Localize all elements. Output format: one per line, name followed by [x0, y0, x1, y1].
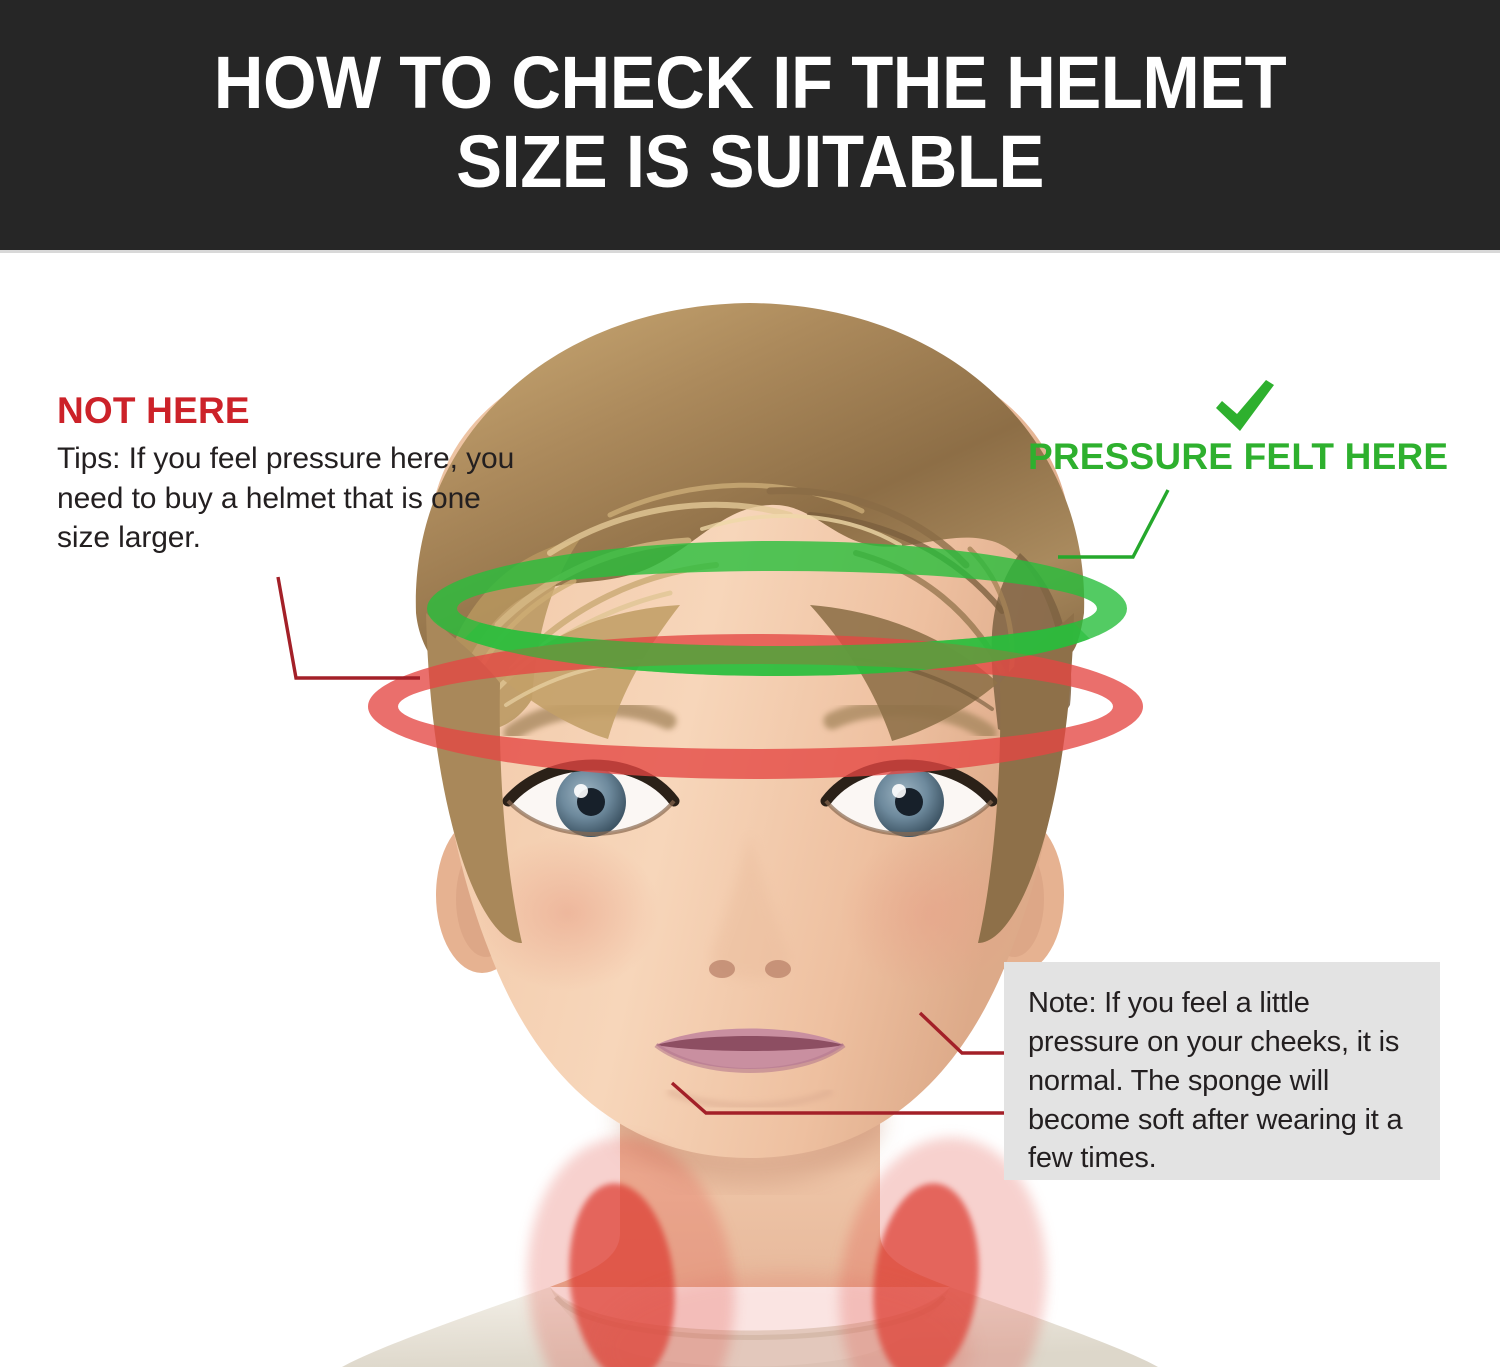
header-banner: HOW TO CHECK IF THE HELMET SIZE IS SUITA…: [0, 0, 1500, 253]
note-text: Note: If you feel a little pressure on y…: [1028, 984, 1418, 1178]
page-title: HOW TO CHECK IF THE HELMET SIZE IS SUITA…: [132, 43, 1369, 207]
pressure-here-annotation: PRESSURE FELT HERE: [1028, 378, 1458, 475]
not-here-body: Tips: If you feel pressure here, you nee…: [57, 439, 527, 558]
not-here-annotation: NOT HERE Tips: If you feel pressure here…: [57, 392, 527, 558]
note-callout-box: Note: If you feel a little pressure on y…: [1004, 962, 1440, 1180]
infographic-page: HOW TO CHECK IF THE HELMET SIZE IS SUITA…: [0, 0, 1500, 1367]
pressure-here-title: PRESSURE FELT HERE: [1028, 438, 1458, 475]
check-mark-icon: [1213, 378, 1277, 436]
not-here-title: NOT HERE: [57, 392, 527, 429]
